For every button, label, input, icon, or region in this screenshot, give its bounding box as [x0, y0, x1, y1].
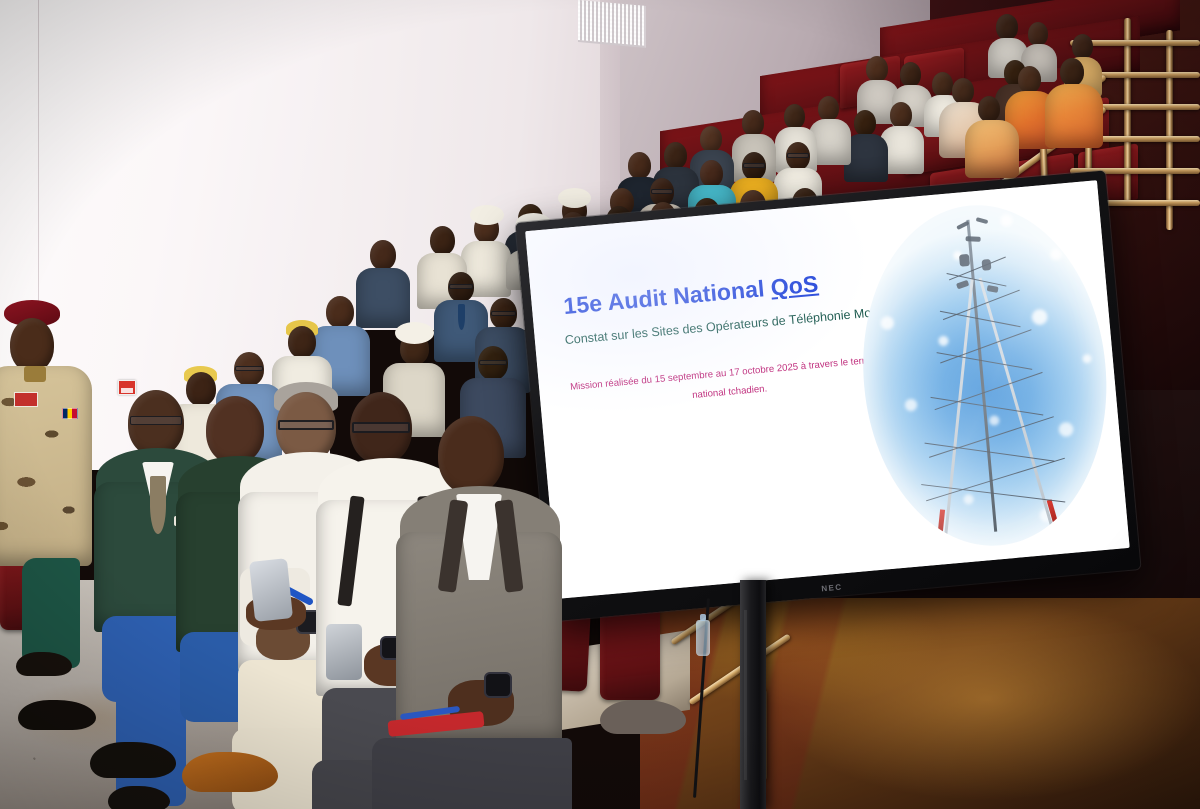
ventilation-grille-icon [578, 0, 646, 48]
person-leg [372, 738, 572, 809]
uniform-badge [24, 366, 46, 382]
shoe [18, 700, 96, 730]
rank-insignia [14, 392, 38, 407]
slide-title-text: 15e Audit National [562, 274, 772, 318]
officer-head [10, 318, 54, 372]
antenna [982, 259, 992, 271]
antenna [959, 254, 970, 267]
antenna [965, 236, 980, 242]
slide-title-underlined: QoS [770, 270, 820, 300]
water-bottle [696, 620, 710, 656]
tower-image-container [843, 188, 1126, 563]
eyeglasses [352, 422, 410, 433]
conference-hall-photo: 15e Audit National QoS Constat sur les S… [0, 0, 1200, 809]
shoe-brown [182, 752, 278, 792]
shoe [600, 700, 686, 734]
person-head [206, 396, 264, 464]
smartphone [326, 624, 362, 680]
lit-floor-area [640, 598, 1200, 809]
shoe [90, 742, 176, 778]
presentation-display[interactable]: 15e Audit National QoS Constat sur les S… [515, 170, 1140, 621]
necktie [150, 476, 166, 534]
fire-alarm-call-point-icon [118, 380, 136, 395]
officer-shoe [16, 652, 72, 676]
eyeglasses [130, 416, 182, 425]
smartphone [249, 558, 293, 622]
presentation-slide: 15e Audit National QoS Constat sur les S… [525, 180, 1130, 599]
slide-mission-text: Mission réalisée du 15 septembre au 17 o… [567, 351, 890, 416]
chad-flag-patch [62, 408, 78, 419]
eyeglasses [278, 420, 334, 430]
cloud-texture [849, 195, 1121, 555]
tv-bezel: 15e Audit National QoS Constat sur les S… [515, 170, 1140, 621]
slide-title: 15e Audit National QoS [562, 270, 819, 320]
telecom-tower-image [849, 195, 1121, 555]
smartwatch [484, 672, 512, 698]
person-head [438, 416, 504, 494]
tv-screen: 15e Audit National QoS Constat sur les S… [525, 180, 1130, 599]
tv-brand-logo: NEC [821, 582, 843, 593]
tv-floor-stand [740, 580, 766, 809]
handrail-post [1124, 18, 1131, 206]
